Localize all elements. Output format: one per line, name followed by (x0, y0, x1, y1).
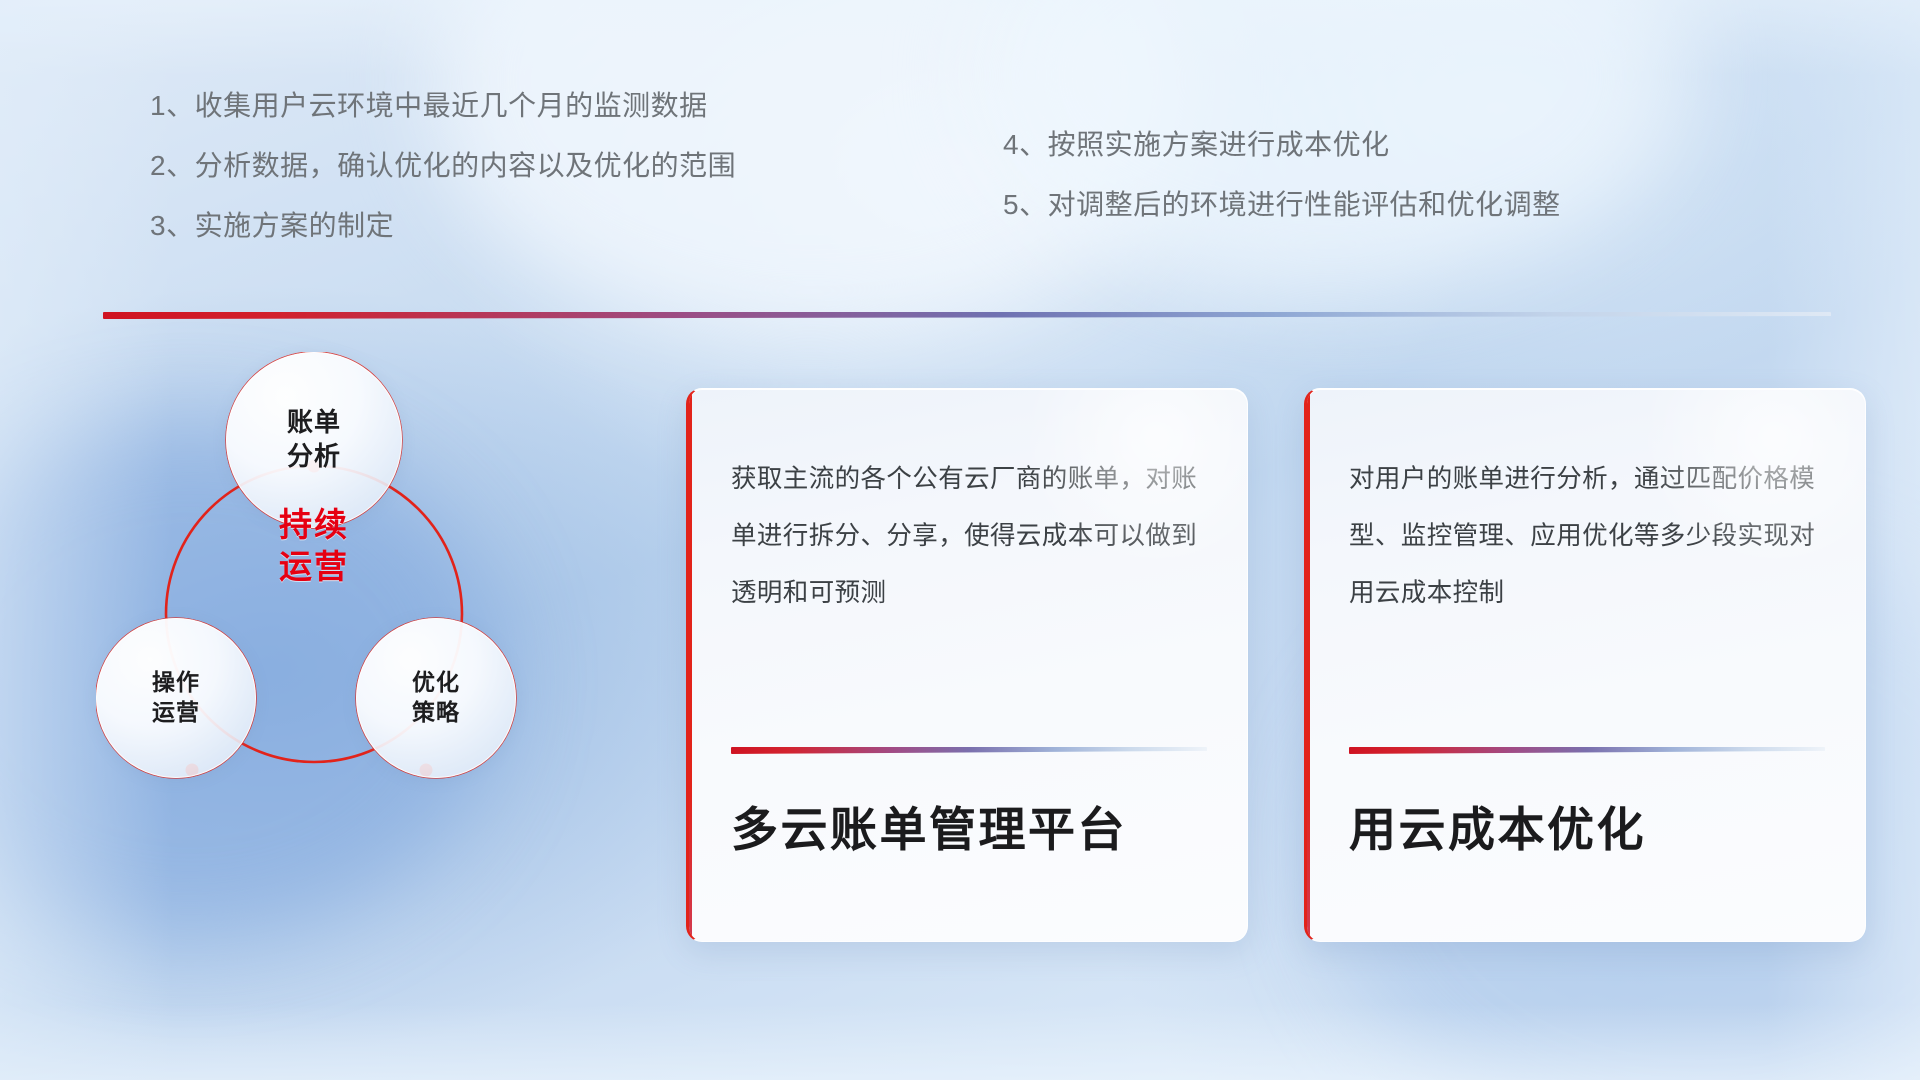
steps-column-right: 4、按照实施方案进行成本优化 5、对调整后的环境进行性能评估和优化调整 (1003, 131, 1561, 251)
step-item: 5、对调整后的环境进行性能评估和优化调整 (1003, 191, 1561, 219)
venn-center-label-line2: 运营 (224, 546, 404, 588)
feature-card-cost-optimization[interactable]: 对用户的账单进行分析，通过匹配价格模型、监控管理、应用优化等多少段实现对用云成本… (1304, 388, 1866, 942)
venn-bubble-label-line2: 策略 (412, 698, 460, 728)
slide-canvas: 1、收集用户云环境中最近几个月的监测数据 2、分析数据，确认优化的内容以及优化的… (0, 0, 1920, 1080)
venn-bubble-optimization-strategy: 优化 策略 (356, 618, 516, 778)
card-title: 用云成本优化 (1349, 791, 1646, 860)
venn-bubble-label-line1: 账单 (287, 406, 341, 440)
venn-bubble-label-line1: 操作 (152, 668, 200, 698)
card-title: 多云账单管理平台 (731, 791, 1127, 860)
venn-bubble-label-line2: 分析 (287, 440, 341, 474)
venn-bubble-operations: 操作 运营 (96, 618, 256, 778)
feature-cards: 获取主流的各个公有云厂商的账单，对账单进行拆分、分享，使得云成本可以做到透明和可… (686, 388, 1866, 942)
card-body-text: 对用户的账单进行分析，通过匹配价格模型、监控管理、应用优化等多少段实现对用云成本… (1349, 451, 1825, 622)
card-divider-rule (1349, 747, 1825, 754)
venn-center-label: 持续 运营 (224, 504, 404, 588)
header-divider-rule (103, 312, 1831, 319)
venn-diagram: 账单 分析 操作 运营 优化 策略 持续 运营 (96, 352, 636, 952)
card-divider-rule (731, 747, 1207, 754)
steps-section: 1、收集用户云环境中最近几个月的监测数据 2、分析数据，确认优化的内容以及优化的… (0, 92, 1920, 262)
venn-bubble-label-line2: 运营 (152, 698, 200, 728)
venn-bubble-billing-analysis: 账单 分析 (226, 352, 402, 528)
feature-card-multicloud-billing[interactable]: 获取主流的各个公有云厂商的账单，对账单进行拆分、分享，使得云成本可以做到透明和可… (686, 388, 1248, 942)
venn-center-label-line1: 持续 (224, 504, 404, 546)
step-item: 2、分析数据，确认优化的内容以及优化的范围 (150, 152, 736, 180)
step-item: 4、按照实施方案进行成本优化 (1003, 131, 1561, 159)
step-item: 1、收集用户云环境中最近几个月的监测数据 (150, 92, 736, 120)
step-item: 3、实施方案的制定 (150, 212, 736, 240)
card-body-text: 获取主流的各个公有云厂商的账单，对账单进行拆分、分享，使得云成本可以做到透明和可… (731, 451, 1207, 622)
venn-bubble-label-line1: 优化 (412, 668, 460, 698)
steps-column-left: 1、收集用户云环境中最近几个月的监测数据 2、分析数据，确认优化的内容以及优化的… (150, 92, 736, 272)
